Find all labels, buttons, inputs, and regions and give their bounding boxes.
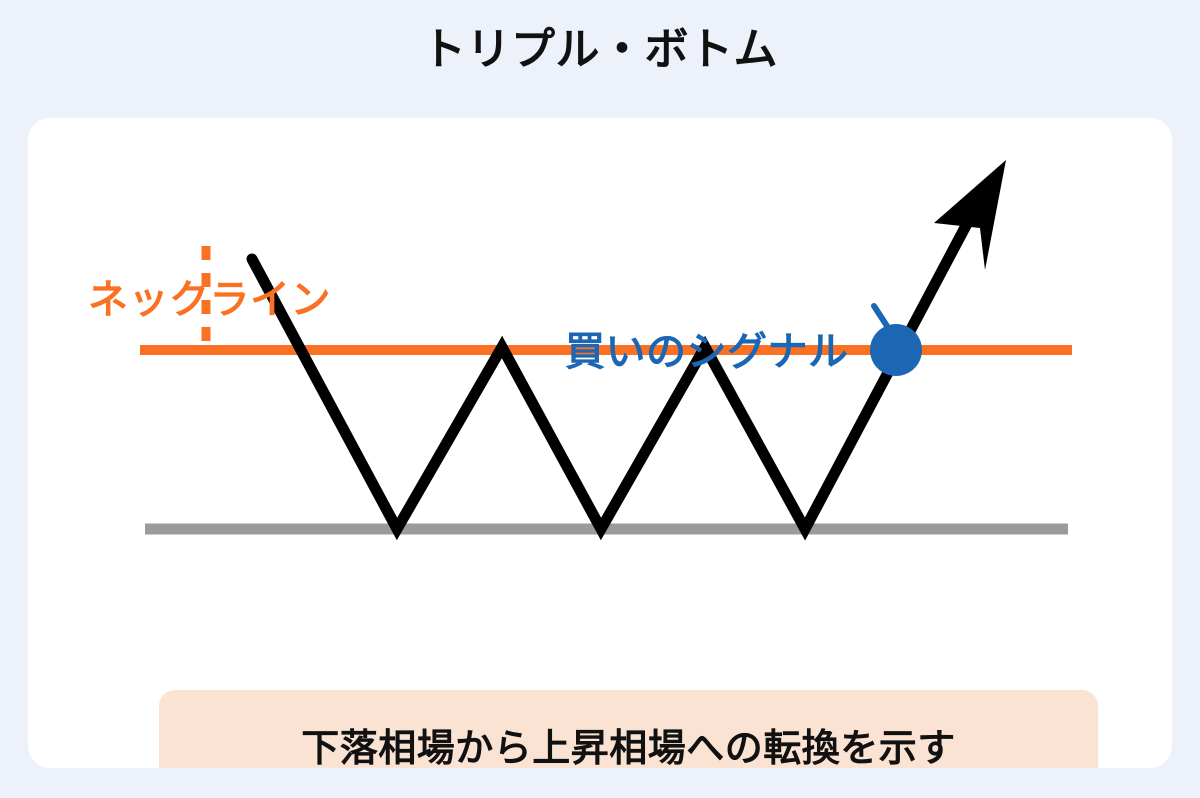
breakout-arrow-head: [934, 160, 1006, 270]
buy-signal-label: 買いのシグナル: [565, 330, 849, 374]
page-title: トリプル・ボトム: [0, 24, 1200, 77]
caption-line-1: 下落相場から上昇相場への転換を示す: [301, 726, 956, 769]
buy-signal-marker[interactable]: [870, 324, 922, 376]
caption-box: 下落相場から上昇相場への転換を示す チャートパターン: [159, 690, 1098, 768]
triple-bottom-chart: [28, 118, 1172, 768]
chart-card: ネックライン 買いのシグナル 下落相場から上昇相場への転換を示す チャートパター…: [28, 118, 1172, 768]
neckline-label: ネックライン: [88, 278, 331, 322]
